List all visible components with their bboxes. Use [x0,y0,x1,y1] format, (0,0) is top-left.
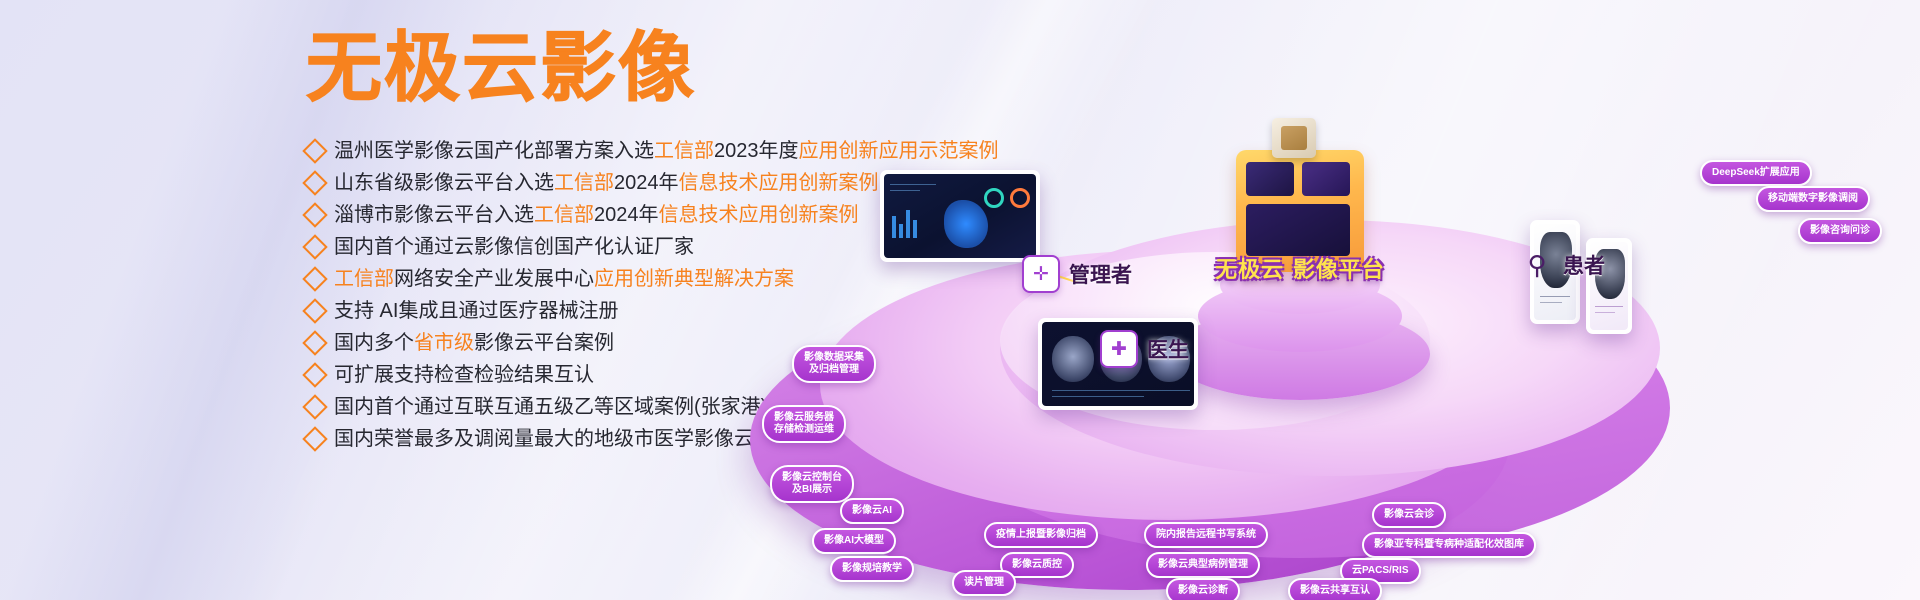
feature-pill-reading[interactable]: 读片管理 [952,570,1016,596]
feature-bullet-text: 国内首个通过云影像信创国产化认证厂家 [334,231,694,263]
feature-pill-training[interactable]: 影像规培教学 [830,556,914,582]
feature-pill-cloud-ai[interactable]: 影像云AI [840,498,904,524]
bullet-text-segment: 国内首个通过云影像信创国产化认证厂家 [334,236,694,258]
feature-pill-server-storage[interactable]: 影像云服务器 存储检测运维 [762,405,846,443]
role-doctor-label: 医生 [1147,334,1189,364]
feature-pill-data-collect[interactable]: 影像数据采集 及归档管理 [792,345,876,383]
feature-pill-typical-case[interactable]: 影像云典型病例管理 [1146,552,1260,578]
diamond-bullet-icon [302,298,327,323]
bullet-text-segment: 山东省级影像云平台入选 [334,172,554,194]
bullet-text-segment: 2024年 [614,172,679,194]
role-admin[interactable]: ✛ 管理者 [1022,255,1132,293]
bullet-text-segment: 可扩展支持检查检验结果互认 [334,364,594,386]
feature-pill-ai-model[interactable]: 影像AI大模型 [812,528,896,554]
diamond-bullet-icon [302,138,327,163]
feature-pill-epidemic[interactable]: 疫情上报暨影像归档 [984,522,1098,548]
box-icon [1272,118,1316,158]
role-patient[interactable]: ⚲ 患者 [1520,248,1605,282]
feature-bullet-text: 国内多个省市级影像云平台案例 [334,327,614,359]
platform-illustration: 无极云 影像平台 [700,140,1920,600]
feature-pill-share[interactable]: 影像云共享互认 [1288,578,1382,600]
bullet-text-segment: 淄博市影像云平台入选 [334,204,534,226]
bullet-text-segment: 省市级 [414,332,474,354]
diamond-bullet-icon [302,394,327,419]
feature-pill-remote-report[interactable]: 院内报告远程书写系统 [1144,522,1268,548]
diamond-bullet-icon [302,202,327,227]
feature-bullet-text: 可扩展支持检查检验结果互认 [334,359,594,391]
feature-pill-diagnosis[interactable]: 影像云诊断 [1166,578,1240,600]
diamond-bullet-icon [302,170,327,195]
bullet-text-segment: 工信部 [534,204,594,226]
feature-bullet-text: 支持 AI集成且通过医疗器械注册 [334,295,618,327]
diamond-bullet-icon [302,330,327,355]
page-title: 无极云影像 [306,26,696,110]
banner-stage: 无极云影像 温州医学影像云国产化部署方案入选工信部2023年度应用创新应用示范案… [0,0,1920,600]
role-patient-label: 患者 [1563,250,1605,280]
feature-pill-consult-online[interactable]: 影像咨询问诊 [1798,218,1882,244]
bullet-text-segment: 工信部 [554,172,614,194]
diamond-bullet-icon [302,234,327,259]
bullet-text-segment: 影像云平台案例 [474,332,614,354]
bullet-text-segment: 工信部 [334,268,394,290]
diamond-bullet-icon [302,362,327,387]
shield-plus-icon: ✛ [1022,255,1060,293]
diamond-bullet-icon [302,266,327,291]
server-tower-icon [1236,150,1364,272]
feature-pill-consult[interactable]: 影像云会诊 [1372,502,1446,528]
bullet-text-segment: 支持 AI集成且通过医疗器械注册 [334,300,618,322]
dashboard-screen [880,170,1040,262]
role-doctor[interactable]: ✚ 医生 [1100,330,1189,368]
feature-pill-console-bi[interactable]: 影像云控制台 及BI展示 [770,465,854,503]
feature-pill-deepseek[interactable]: DeepSeek扩展应用 [1700,160,1812,186]
doctor-card-icon: ✚ [1100,330,1138,368]
bullet-text-segment: 网络安全产业发展中心 [394,268,594,290]
bullet-text-segment: 国内多个 [334,332,414,354]
bullet-text-segment: 2024年 [594,204,659,226]
person-icon: ⚲ [1520,248,1554,282]
diamond-bullet-icon [302,426,327,451]
feature-pill-specialty-db[interactable]: 影像亚专科暨专病种适配化效图库 [1362,532,1536,558]
feature-pill-mobile-view[interactable]: 移动端数字影像调阅 [1756,186,1870,212]
role-admin-label: 管理者 [1069,259,1132,289]
bullet-text-segment: 温州医学影像云国产化部署方案入选 [334,140,654,162]
center-platform-title: 无极云 影像平台 [1205,258,1395,284]
